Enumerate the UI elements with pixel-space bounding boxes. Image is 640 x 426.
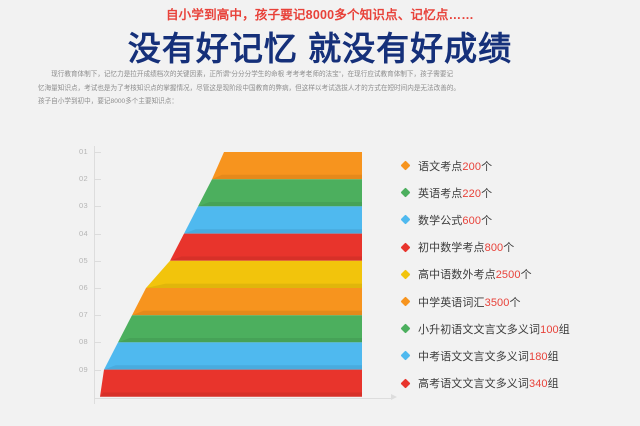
legend-item-number: 220 [462,188,481,200]
legend-item-label: 英语考点220个 [418,185,492,201]
legend-item: 初中数学考点800个 [402,234,640,261]
paragraph-line-2: 忆海量知识点，考试也是为了考核知识点的掌握情况，尽管这是现阶段中国教育的弊病，但… [38,82,606,96]
legend-item-suffix: 组 [548,351,559,363]
paragraph-line-1: 现行教育体制下，记忆力是拉开成绩档次的关键因素，正所谓“分分分学生的命根 考考考… [38,68,606,82]
legend-diamond-icon [401,161,411,171]
legend-item-suffix: 个 [521,269,532,281]
pyramid-band-shadow [104,365,362,369]
legend-diamond-icon [401,188,411,198]
legend-item-prefix: 数学公式 [418,215,462,227]
legend-item-prefix: 高中语数外考点 [418,269,496,281]
legend-item-label: 高中语数外考点2500个 [418,266,532,282]
legend-item: 中学英语词汇3500个 [402,288,640,315]
legend-item: 语文考点200个 [402,152,640,179]
legend-item-number: 180 [529,351,548,363]
legend-item-prefix: 中考语文文言文多义词 [418,351,529,363]
legend-item-suffix: 个 [481,215,492,227]
pyramid-band-shadow [118,338,362,342]
legend-item-number: 800 [485,242,504,254]
legend-item-prefix: 初中数学考点 [418,242,485,254]
legend-item: 数学公式600个 [402,206,640,233]
chart-legend: 语文考点200个英语考点220个数学公式600个初中数学考点800个高中语数外考… [402,152,640,397]
legend-item-suffix: 个 [503,242,514,254]
legend-item: 高考语文文言文多义词340组 [402,370,640,397]
subtitle-text: 自小学到高中，孩子要记8000多个知识点、记忆点…… [0,4,640,23]
legend-item-number: 200 [462,161,481,173]
pyramid-band-shadow [170,256,362,260]
legend-item-prefix: 高考语文文言文多义词 [418,378,529,390]
legend-item-number: 100 [540,324,559,336]
legend-item-suffix: 个 [509,297,520,309]
legend-item-label: 初中数学考点800个 [418,239,514,255]
legend-item-prefix: 小升初语文文言文多义词 [418,324,540,336]
legend-item-label: 中考语文文言文多义词180组 [418,348,559,364]
legend-item-prefix: 英语考点 [418,188,462,200]
legend-diamond-icon [401,378,411,388]
legend-diamond-icon [401,297,411,307]
legend-diamond-icon [401,324,411,334]
legend-diamond-icon [401,242,411,252]
pyramid-band-shadow [198,202,362,206]
paragraph-line-3: 孩子自小学到初中，要记8000多个主要知识点： [38,95,606,109]
legend-diamond-icon [401,215,411,225]
legend-item-label: 数学公式600个 [418,212,492,228]
headline-text: 没有好记忆 就没有好成绩 [0,22,640,70]
pyramid-band-shadow [146,284,362,288]
legend-item-suffix: 个 [481,161,492,173]
legend-item-number: 3500 [485,297,510,309]
legend-diamond-icon [401,351,411,361]
legend-item: 中考语文文言文多义词180组 [402,342,640,369]
pyramid-chart: 010203040506070809 [62,140,402,405]
legend-item-suffix: 组 [559,324,570,336]
legend-item-suffix: 个 [481,188,492,200]
body-paragraph: 现行教育体制下，记忆力是拉开成绩档次的关键因素，正所谓“分分分学生的命根 考考考… [38,68,606,109]
legend-item-label: 中学英语词汇3500个 [418,294,521,310]
legend-item: 高中语数外考点2500个 [402,261,640,288]
pyramid-band-group [62,140,402,405]
legend-diamond-icon [401,269,411,279]
pyramid-band-shadow [184,229,362,233]
legend-item-label: 小升初语文文言文多义词100组 [418,321,570,337]
legend-item: 英语考点220个 [402,179,640,206]
legend-item-number: 2500 [496,269,521,281]
legend-item-suffix: 组 [548,378,559,390]
legend-item-prefix: 语文考点 [418,161,462,173]
pyramid-band-shadow [100,392,362,396]
legend-item-label: 高考语文文言文多义词340组 [418,375,559,391]
legend-item: 小升初语文文言文多义词100组 [402,315,640,342]
pyramid-band-shadow [212,175,362,179]
infographic-page: 自小学到高中，孩子要记8000多个知识点、记忆点…… 没有好记忆 就没有好成绩 … [0,0,640,426]
legend-item-label: 语文考点200个 [418,158,492,174]
legend-item-number: 340 [529,378,548,390]
legend-item-number: 600 [462,215,481,227]
pyramid-band-shadow [132,311,362,315]
legend-item-prefix: 中学英语词汇 [418,297,485,309]
